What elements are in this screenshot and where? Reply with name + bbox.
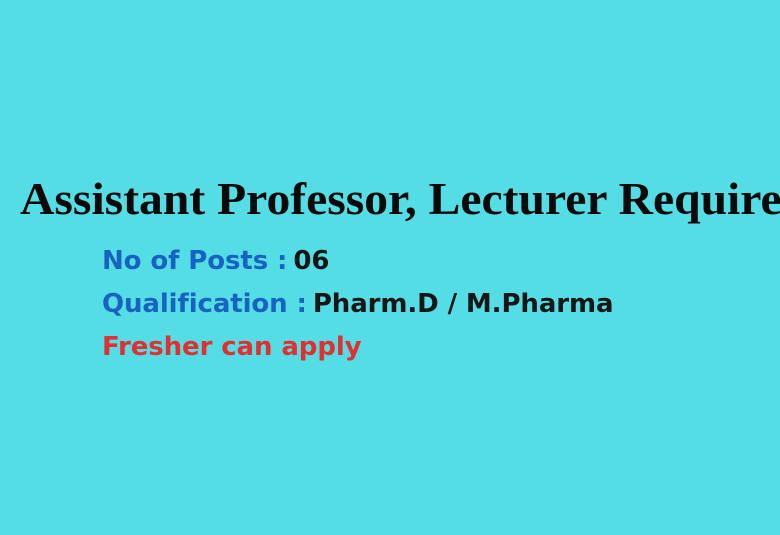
number-of-posts-value: 06 bbox=[293, 246, 329, 276]
detail-row-fresher-note: Fresher can apply bbox=[102, 326, 762, 369]
detail-row-number-of-posts: No of Posts :06 bbox=[102, 240, 762, 283]
qualification-value: Pharm.D / M.Pharma bbox=[313, 289, 614, 319]
page-title: Assistant Professor, Lecturer Require bbox=[20, 174, 780, 224]
detail-row-qualification: Qualification :Pharm.D / M.Pharma bbox=[102, 283, 762, 326]
job-advertisement-poster: Assistant Professor, Lecturer Require No… bbox=[0, 0, 780, 535]
job-details-block: No of Posts :06 Qualification :Pharm.D /… bbox=[102, 240, 762, 369]
qualification-label: Qualification : bbox=[102, 289, 307, 319]
fresher-note-text: Fresher can apply bbox=[102, 332, 362, 362]
number-of-posts-label: No of Posts : bbox=[102, 246, 287, 276]
